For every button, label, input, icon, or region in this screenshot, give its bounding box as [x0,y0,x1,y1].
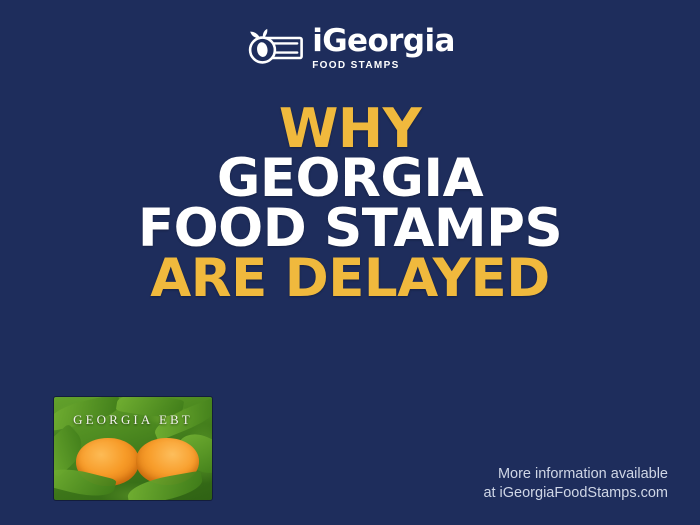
page-title: WHY GEORGIA FOOD STAMPS ARE DELAYED [0,104,700,304]
footer-line-1: More information available [483,465,668,484]
footer-note: More information available at iGeorgiaFo… [483,465,668,503]
ebt-card-label: GEORGIA EBT [54,412,212,428]
brand-tagline: FOOD STAMPS [312,61,399,71]
brand-name: iGeorgia [312,26,455,58]
footer-line-2[interactable]: at iGeorgiaFoodStamps.com [483,484,668,503]
headline-line-2: GEORGIA [0,154,700,204]
peach-card-icon [245,28,303,68]
georgia-ebt-card-image: GEORGIA EBT [54,397,212,500]
headline-line-4: ARE DELAYED [0,254,700,304]
headline-line-3: FOOD STAMPS [0,204,700,254]
brand-wordmark: iGeorgia FOOD STAMPS [312,26,455,71]
headline-line-1: WHY [0,104,700,154]
slide-canvas: iGeorgia FOOD STAMPS WHY GEORGIA FOOD ST… [0,0,700,525]
brand-logo[interactable]: iGeorgia FOOD STAMPS [0,26,700,71]
